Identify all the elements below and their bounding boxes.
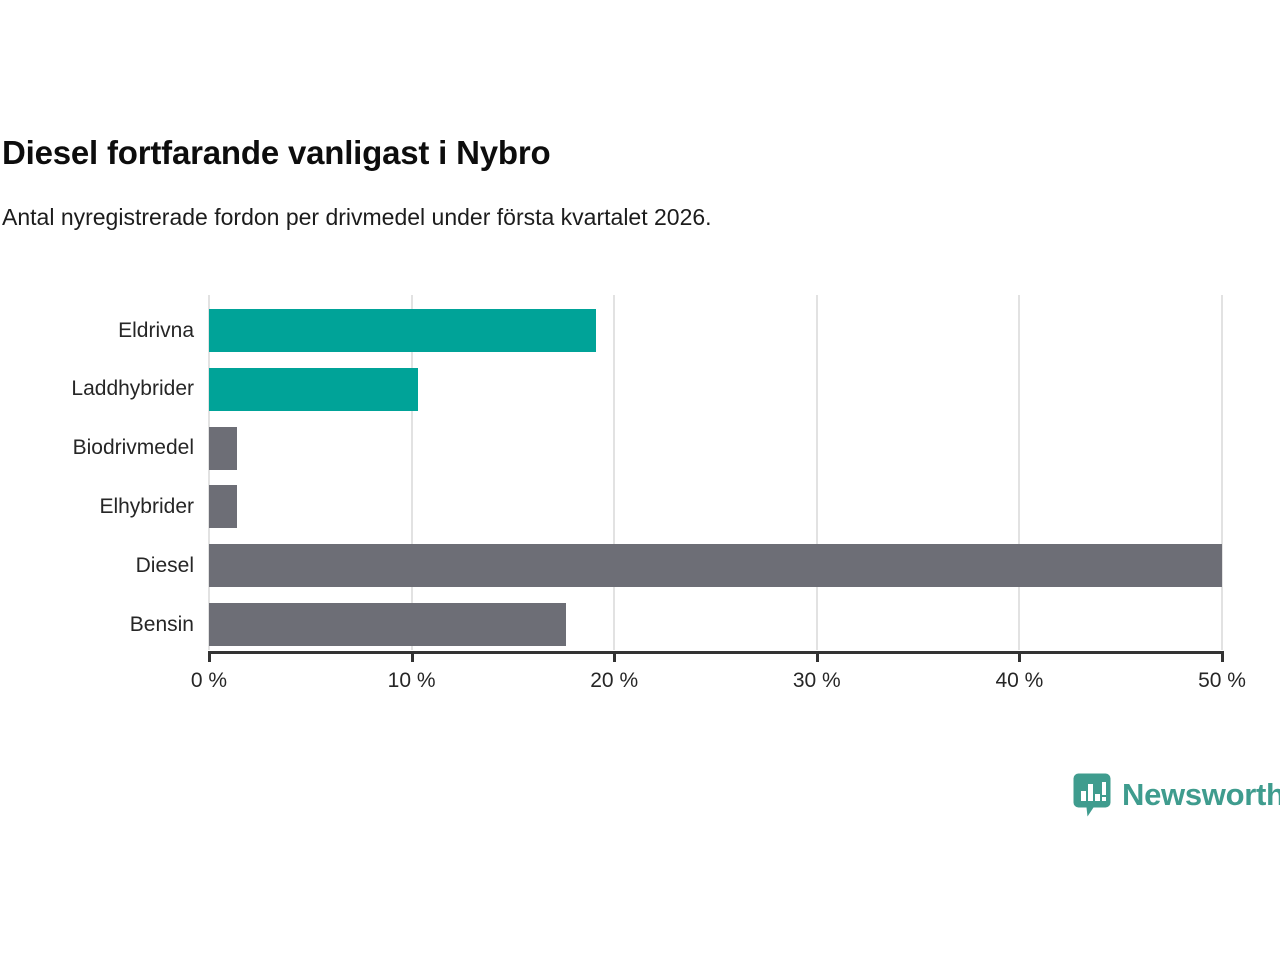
x-tick-mark-50	[1221, 651, 1224, 662]
y-tick-label-diesel: Diesel	[0, 554, 194, 578]
x-tick-mark-30	[816, 651, 819, 662]
gridline-40	[1018, 295, 1020, 650]
bar-laddhybrider[interactable]	[209, 368, 418, 411]
newsworthy-logo: Newsworthy	[1073, 772, 1280, 818]
bar-diesel[interactable]	[209, 544, 1222, 587]
gridline-30	[816, 295, 818, 650]
x-tick-mark-20	[613, 651, 616, 662]
x-tick-mark-40	[1018, 651, 1021, 662]
x-tick-mark-0	[208, 651, 211, 662]
chart-header: Diesel fortfarande vanligast i Nybro Ant…	[0, 132, 1280, 232]
x-tick-label-40: 40 %	[959, 668, 1079, 694]
chart-title: Diesel fortfarande vanligast i Nybro	[0, 132, 1280, 174]
x-tick-label-0: 0 %	[149, 668, 269, 694]
y-tick-label-eldrivna: Eldrivna	[0, 319, 194, 343]
chart-subtitle: Antal nyregistrerade fordon per drivmede…	[0, 174, 1280, 232]
y-tick-label-bensin: Bensin	[0, 613, 194, 637]
bar-elhybrider[interactable]	[209, 485, 237, 528]
bar-biodrivmedel[interactable]	[209, 427, 237, 470]
chart-plot: EldrivnaLaddhybriderBiodrivmedelElhybrid…	[0, 295, 1280, 655]
y-tick-label-elhybrider: Elhybrider	[0, 495, 194, 519]
y-axis-labels: EldrivnaLaddhybriderBiodrivmedelElhybrid…	[0, 295, 194, 650]
gridline-20	[613, 295, 615, 650]
x-tick-label-30: 30 %	[757, 668, 877, 694]
y-tick-label-biodrivmedel: Biodrivmedel	[0, 436, 194, 460]
y-tick-label-laddhybrider: Laddhybrider	[0, 377, 194, 401]
x-tick-label-20: 20 %	[554, 668, 674, 694]
x-tick-mark-10	[411, 651, 414, 662]
x-tick-label-50: 50 %	[1162, 668, 1280, 694]
bar-bensin[interactable]	[209, 603, 566, 646]
bar-eldrivna[interactable]	[209, 309, 596, 352]
newsworthy-logo-text: Newsworthy	[1122, 778, 1280, 812]
x-axis-line	[209, 651, 1223, 654]
newsworthy-bar-chart-bubble-icon	[1073, 773, 1111, 817]
gridline-50	[1221, 295, 1223, 650]
x-tick-label-10: 10 %	[352, 668, 472, 694]
plot-area	[209, 295, 1222, 650]
